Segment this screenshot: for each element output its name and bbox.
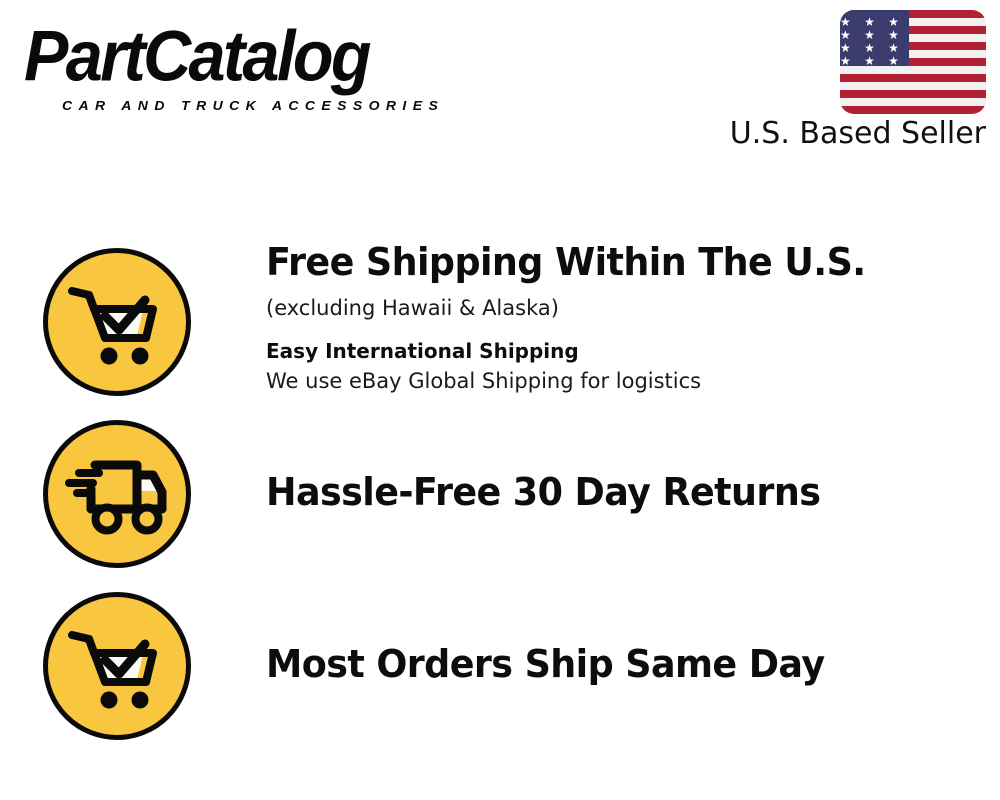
flag-canton: ★ ★ ★ ★ ★ ★ ★ ★ ★ ★ ★ ★ ★ ★ ★ ★ ★ ★ (840, 10, 909, 66)
feature-heading: Most Orders Ship Same Day (266, 642, 825, 686)
feature-row-free-shipping: Free Shipping Within The U.S. (excluding… (43, 248, 973, 396)
feature-exclusion-note: (excluding Hawaii & Alaska) (266, 293, 559, 323)
feature-row-returns: Hassle-Free 30 Day Returns (43, 420, 973, 568)
shopping-cart-check-icon (43, 248, 191, 396)
us-based-seller-label: U.S. Based Seller (716, 116, 986, 152)
feature-row-same-day-ship: Most Orders Ship Same Day (43, 592, 973, 740)
flag-stripe (840, 106, 986, 114)
flag-star-row: ★ ★ ★ ★ (840, 28, 909, 42)
shopping-cart-check-icon (43, 592, 191, 740)
flag-stripe (840, 90, 986, 98)
flag-star-row: ★ ★ ★ ★ ★ (840, 41, 909, 55)
brand-wordmark: PartCatalog (24, 20, 369, 92)
feature-heading: Free Shipping Within The U.S. (266, 240, 866, 284)
feature-heading: Hassle-Free 30 Day Returns (266, 470, 820, 514)
flag-star-row: ★ ★ ★ ★ ★ (840, 15, 909, 29)
delivery-truck-icon (43, 420, 191, 568)
feature-text-returns: Hassle-Free 30 Day Returns (223, 420, 963, 568)
flag-star-row: ★ ★ ★ ★ (840, 54, 909, 66)
us-based-seller-badge: ★ ★ ★ ★ ★ ★ ★ ★ ★ ★ ★ ★ ★ ★ ★ ★ ★ ★ U.S.… (716, 10, 986, 152)
us-flag-icon: ★ ★ ★ ★ ★ ★ ★ ★ ★ ★ ★ ★ ★ ★ ★ ★ ★ ★ (840, 10, 986, 114)
feature-international-shipping-title: Easy International Shipping (266, 336, 579, 366)
feature-international-shipping-detail: We use eBay Global Shipping for logistic… (266, 366, 701, 396)
feature-text-same-day-ship: Most Orders Ship Same Day (223, 592, 963, 740)
feature-text-free-shipping: Free Shipping Within The U.S. (excluding… (223, 248, 963, 396)
brand-logo[interactable]: PartCatalog CAR AND TRUCK ACCESSORIES (24, 20, 494, 115)
flag-stripe (840, 74, 986, 82)
brand-tagline: CAR AND TRUCK ACCESSORIES (62, 98, 444, 113)
